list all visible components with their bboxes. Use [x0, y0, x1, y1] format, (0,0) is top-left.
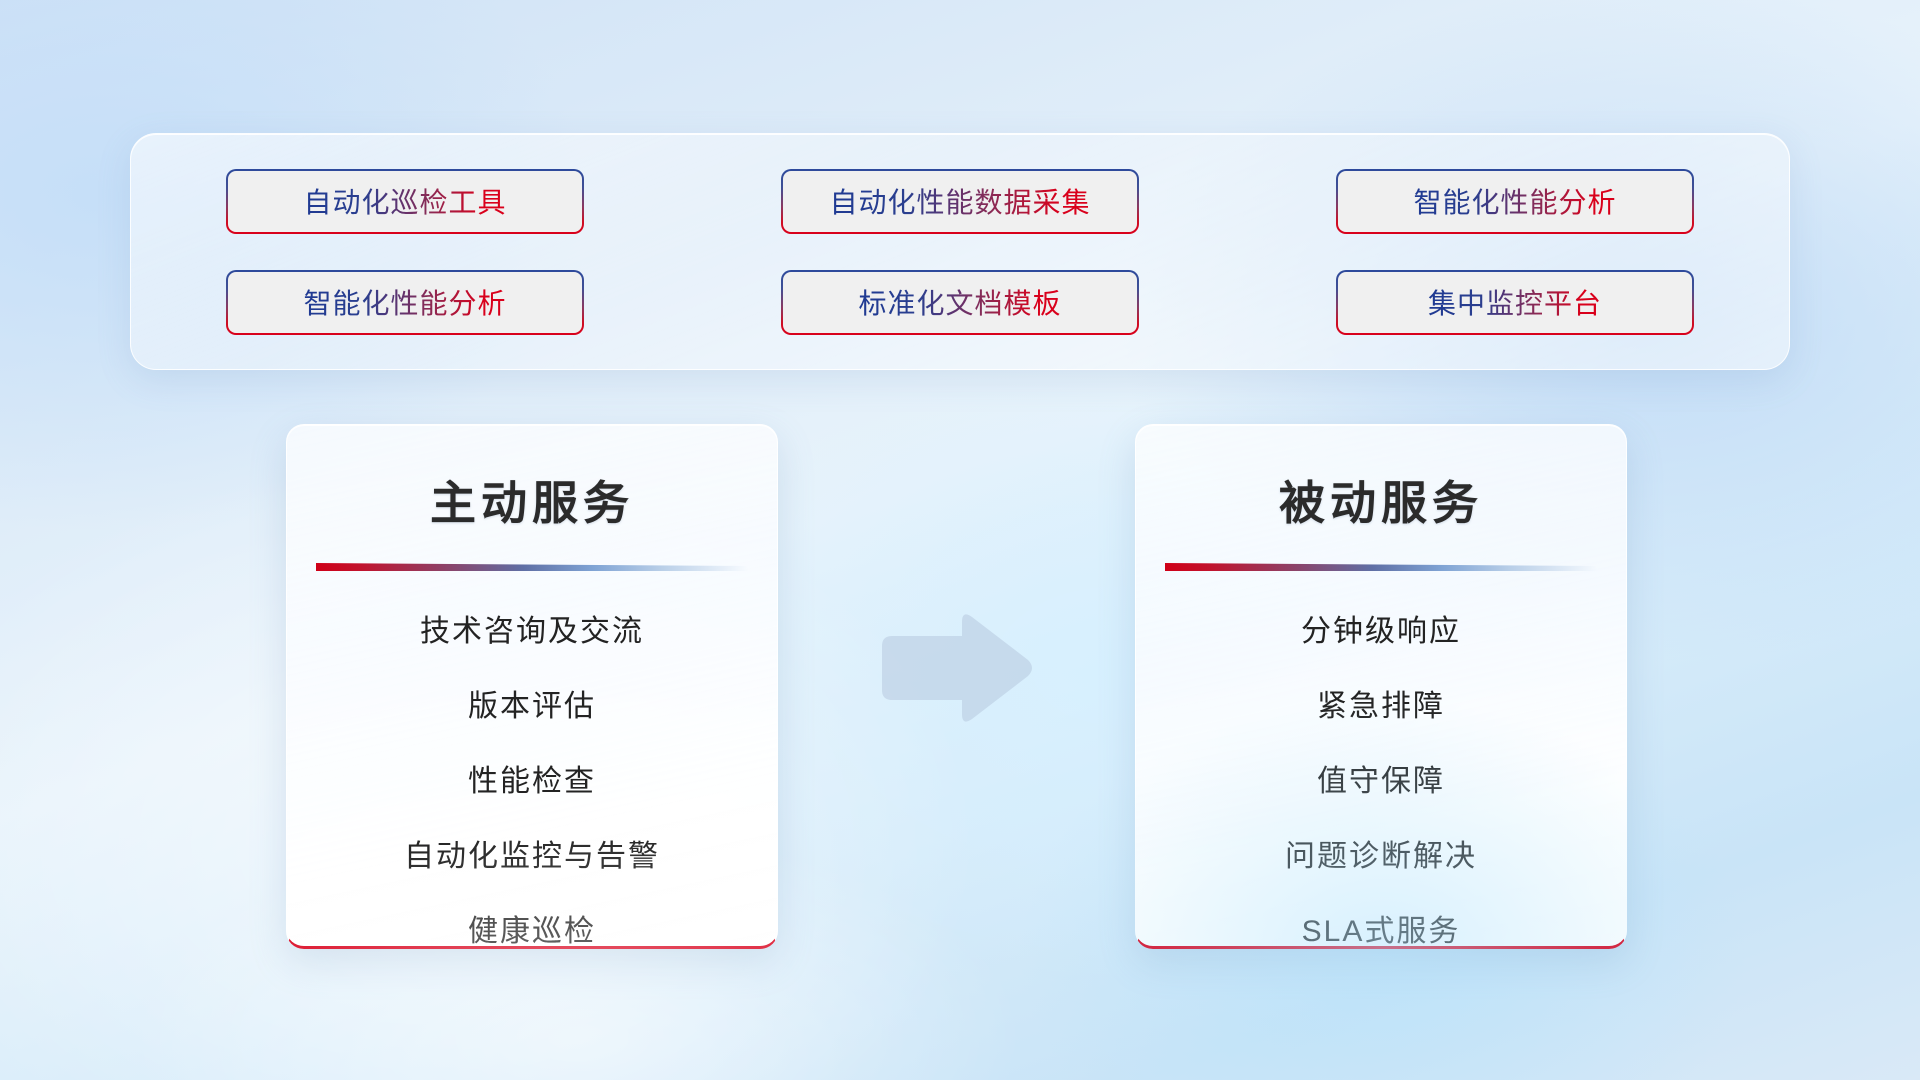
capability-button-surface: 自动化性能数据采集 — [783, 171, 1137, 232]
capability-button-label: 智能化性能分析 — [303, 282, 506, 322]
card-title-passive: 被动服务 — [1136, 467, 1626, 533]
capability-button-standardized-document-template[interactable]: 标准化文档模板 — [781, 270, 1139, 335]
list-item: SLA式服务 — [1136, 915, 1626, 948]
capability-button-surface: 智能化性能分析 — [228, 272, 582, 333]
capability-panel: 自动化巡检工具 自动化性能数据采集 智能化性能分析 智能化性能分析 — [130, 133, 1790, 370]
service-card-passive: 被动服务 分钟级响应 紧急排障 值守保障 问题诊断解决 SLA式服务 — [1135, 424, 1627, 949]
list-item: 技术咨询及交流 — [287, 615, 777, 648]
card-divider-rule — [316, 563, 748, 571]
capability-button-label: 自动化巡检工具 — [303, 181, 506, 221]
capability-button-centralized-monitoring-platform[interactable]: 集中监控平台 — [1336, 270, 1694, 335]
capability-button-grid: 自动化巡检工具 自动化性能数据采集 智能化性能分析 智能化性能分析 — [226, 169, 1694, 335]
capability-button-automated-performance-data-collection[interactable]: 自动化性能数据采集 — [781, 169, 1139, 234]
list-item: 紧急排障 — [1136, 690, 1626, 723]
list-item: 分钟级响应 — [1136, 615, 1626, 648]
service-item-list-passive: 分钟级响应 紧急排障 值守保障 问题诊断解决 SLA式服务 — [1136, 615, 1626, 948]
service-card-active: 主动服务 技术咨询及交流 版本评估 性能检查 自动化监控与告警 健康巡检 — [286, 424, 778, 949]
capability-button-surface: 智能化性能分析 — [1338, 171, 1692, 232]
capability-button-intelligent-performance-analysis-top[interactable]: 智能化性能分析 — [1336, 169, 1694, 234]
capability-button-surface: 自动化巡检工具 — [228, 171, 582, 232]
capability-button-intelligent-performance-analysis-bottom[interactable]: 智能化性能分析 — [226, 270, 584, 335]
capability-button-label: 智能化性能分析 — [1413, 181, 1616, 221]
card-title-active: 主动服务 — [287, 467, 777, 533]
list-item: 健康巡检 — [287, 915, 777, 948]
list-item: 版本评估 — [287, 690, 777, 723]
capability-button-surface: 标准化文档模板 — [783, 272, 1137, 333]
card-divider-rule — [1165, 563, 1597, 571]
list-item: 值守保障 — [1136, 765, 1626, 798]
capability-button-surface: 集中监控平台 — [1338, 272, 1692, 333]
capability-button-label: 自动化性能数据采集 — [829, 181, 1090, 221]
slide-canvas: 自动化巡检工具 自动化性能数据采集 智能化性能分析 智能化性能分析 — [0, 0, 1920, 1080]
list-item: 自动化监控与告警 — [287, 840, 777, 873]
capability-button-label: 标准化文档模板 — [858, 282, 1061, 322]
arrow-right-icon — [876, 608, 1036, 728]
list-item: 性能检查 — [287, 765, 777, 798]
service-item-list-active: 技术咨询及交流 版本评估 性能检查 自动化监控与告警 健康巡检 — [287, 615, 777, 948]
capability-button-automated-inspection-tool[interactable]: 自动化巡检工具 — [226, 169, 584, 234]
list-item: 问题诊断解决 — [1136, 840, 1626, 873]
capability-button-label: 集中监控平台 — [1428, 282, 1602, 322]
